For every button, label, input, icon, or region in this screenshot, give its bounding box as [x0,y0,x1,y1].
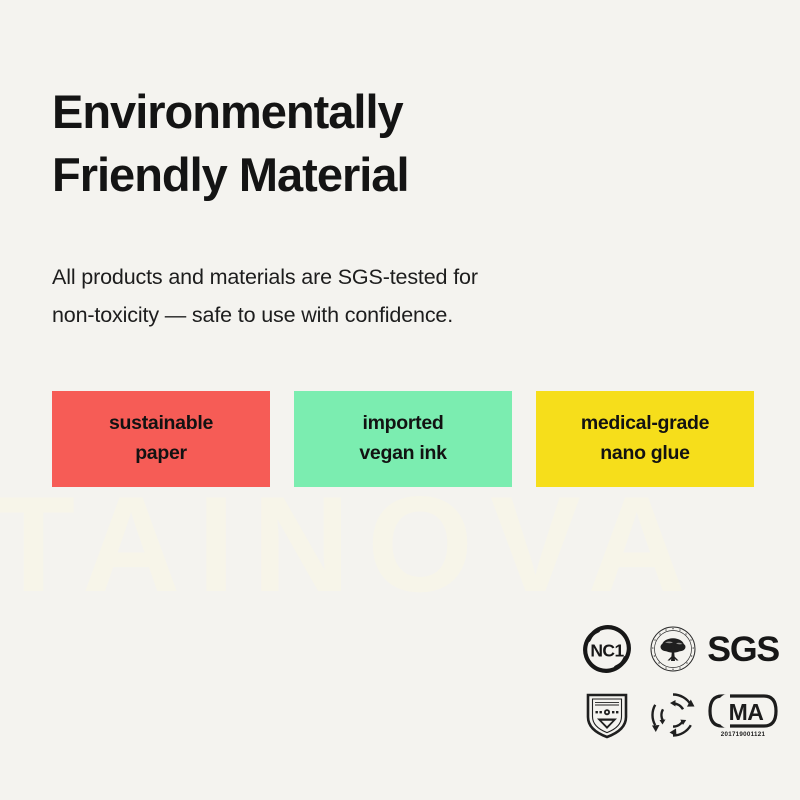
recycle-certification-logo [642,686,704,744]
recycle-arrows-icon [649,691,697,739]
nc1-circle-icon: NC1 [582,624,632,674]
cma-mark-icon: MA [706,693,780,729]
material-badge-imported-vegan-ink: imported vegan ink [294,391,512,487]
forest-tree-seal-icon [649,625,697,673]
badge-label-line-2: vegan ink [359,439,446,469]
material-badge-row: sustainable paper imported vegan ink med… [52,391,757,491]
shield-certification-logo [576,686,638,744]
page-title-line-1: Environmentally [52,81,752,143]
page-title-line-2: Friendly Material [52,144,752,206]
page-subtitle-line-2: non-toxicity — safe to use with confiden… [52,296,672,334]
material-badge-medical-grade-nano-glue: medical-grade nano glue [536,391,754,487]
badge-label-line-1: imported [362,409,443,439]
sgs-certification-logo: SGS [704,620,782,678]
shield-emblem-icon [584,690,630,740]
page-title: Environmentally Friendly Material [52,81,752,205]
cma-certification-logo: MA 201719001121 [704,686,782,744]
sgs-wordmark-icon: SGS [707,632,779,667]
page-subtitle-line-1: All products and materials are SGS-teste… [52,258,672,296]
svg-text:MA: MA [729,699,764,725]
brand-watermark: TAINOVA [0,476,800,612]
badge-label-line-1: sustainable [109,409,213,439]
eco-material-infographic: TAINOVA Environmentally Friendly Materia… [0,0,800,800]
nc1-certification-logo: NC1 [576,620,638,678]
page-subtitle: All products and materials are SGS-teste… [52,258,672,335]
material-badge-sustainable-paper: sustainable paper [52,391,270,487]
badge-label-line-1: medical-grade [581,409,709,439]
svg-text:NC1: NC1 [590,641,624,661]
badge-label-line-2: nano glue [600,439,689,469]
certification-logo-grid: NC1 [576,620,782,746]
cma-certificate-number: 201719001121 [721,731,766,738]
badge-label-line-2: paper [135,439,187,469]
forestry-certification-logo [642,620,704,678]
